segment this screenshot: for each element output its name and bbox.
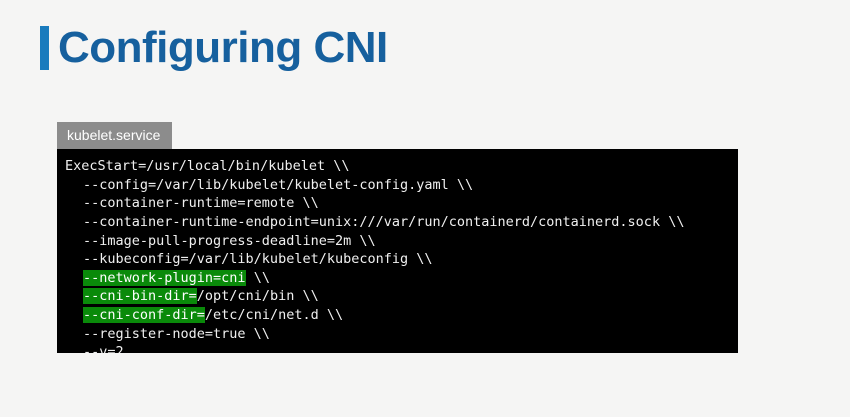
- code-line: --register-node=true \\: [65, 325, 738, 344]
- code-highlight: --network-plugin=cni: [83, 270, 246, 286]
- code-line: --container-runtime-endpoint=unix:///var…: [65, 213, 738, 232]
- code-line: --v=2: [65, 343, 738, 353]
- code-line: --cni-bin-dir=/opt/cni/bin \\: [65, 287, 738, 306]
- code-text: --image-pull-progress-deadline=2m \\: [83, 233, 376, 249]
- code-line: --network-plugin=cni \\: [65, 269, 738, 288]
- title-accent-bar: [40, 26, 49, 70]
- code-line: --kubeconfig=/var/lib/kubelet/kubeconfig…: [65, 250, 738, 269]
- code-text: --v=2: [83, 344, 124, 353]
- code-highlight: --cni-conf-dir=: [83, 307, 205, 323]
- code-line: --config=/var/lib/kubelet/kubelet-config…: [65, 176, 738, 195]
- terminal-code-block: ExecStart=/usr/local/bin/kubelet \\--con…: [57, 149, 738, 353]
- code-line: ExecStart=/usr/local/bin/kubelet \\: [65, 157, 738, 176]
- slide-title-row: Configuring CNI: [40, 18, 388, 78]
- code-text: ExecStart=/usr/local/bin/kubelet \\: [65, 158, 349, 174]
- code-line: --cni-conf-dir=/etc/cni/net.d \\: [65, 306, 738, 325]
- code-text: --register-node=true \\: [83, 326, 270, 342]
- page-title: Configuring CNI: [58, 26, 388, 70]
- code-line: --container-runtime=remote \\: [65, 194, 738, 213]
- code-line: --image-pull-progress-deadline=2m \\: [65, 232, 738, 251]
- code-highlight: --cni-bin-dir=: [83, 288, 197, 304]
- code-text: \\: [246, 270, 270, 286]
- code-tab-kubelet-service[interactable]: kubelet.service: [57, 122, 172, 149]
- code-text: --kubeconfig=/var/lib/kubelet/kubeconfig…: [83, 251, 433, 267]
- code-text: /opt/cni/bin \\: [197, 288, 319, 304]
- code-text: --container-runtime-endpoint=unix:///var…: [83, 214, 684, 230]
- code-text: --config=/var/lib/kubelet/kubelet-config…: [83, 177, 473, 193]
- code-panel: kubelet.service ExecStart=/usr/local/bin…: [57, 122, 738, 353]
- code-text: --container-runtime=remote \\: [83, 195, 319, 211]
- code-text: /etc/cni/net.d \\: [205, 307, 343, 323]
